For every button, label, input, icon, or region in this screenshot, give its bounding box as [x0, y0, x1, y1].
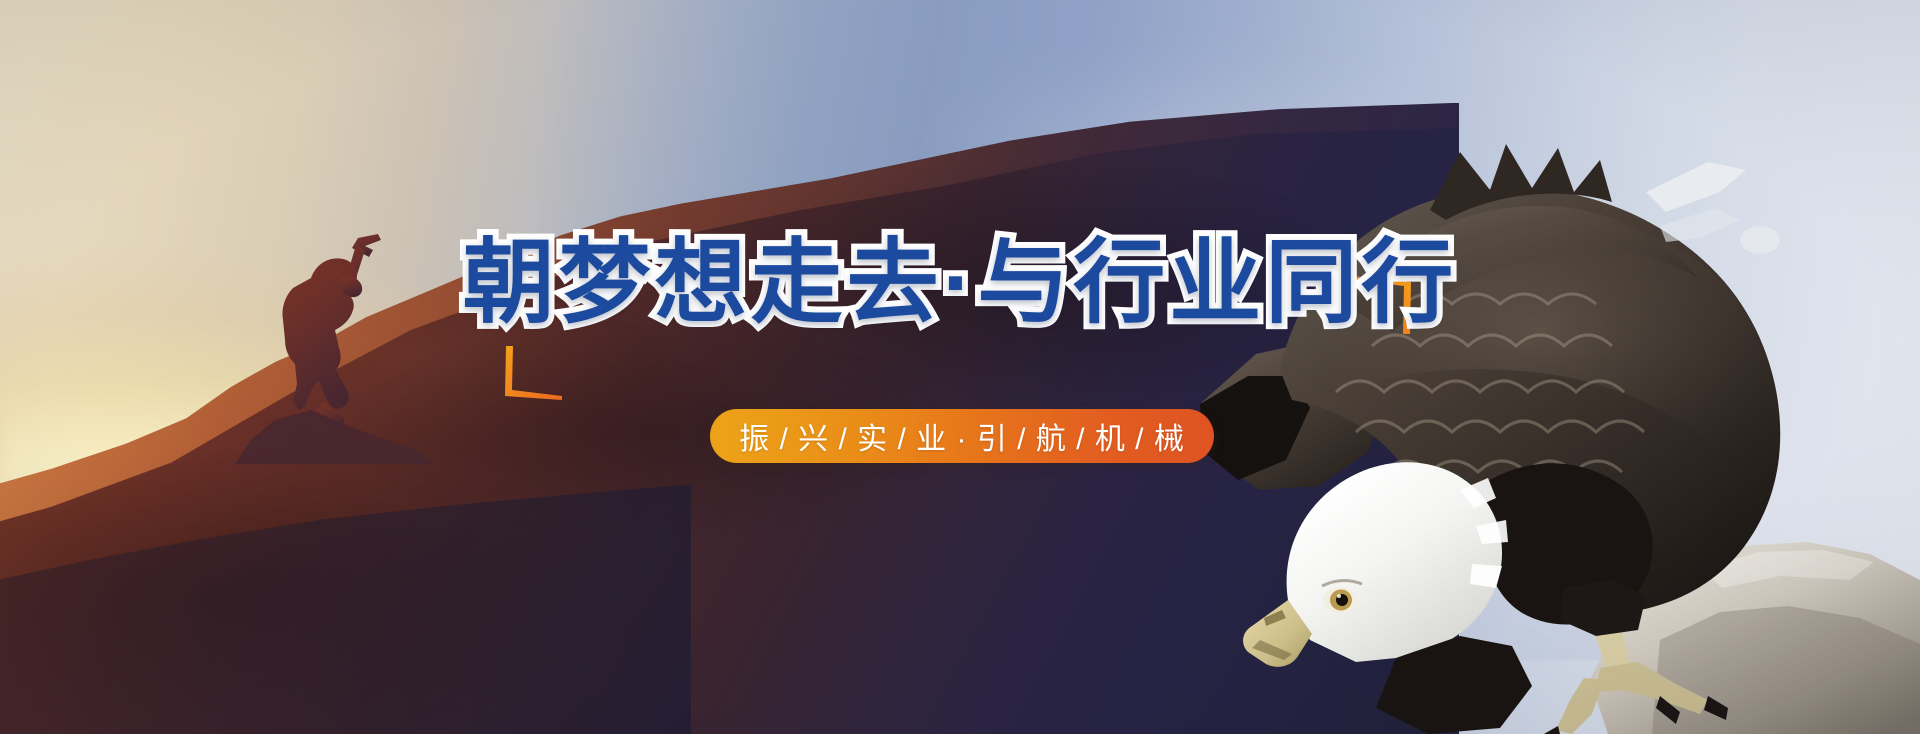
tagline-text: 振 / 兴 / 实 / 业 · 引 / 航 / 机 / 械 — [739, 414, 1185, 458]
hero-banner: 朝梦想走去·与行业同行 振 / 兴 / 实 / 业 · 引 / 航 / 机 / … — [0, 0, 1920, 734]
tagline-pill: 振 / 兴 / 实 / 业 · 引 / 航 / 机 / 械 — [710, 409, 1214, 463]
bald-eagle — [1160, 40, 1920, 734]
climber-silhouette — [215, 214, 435, 464]
